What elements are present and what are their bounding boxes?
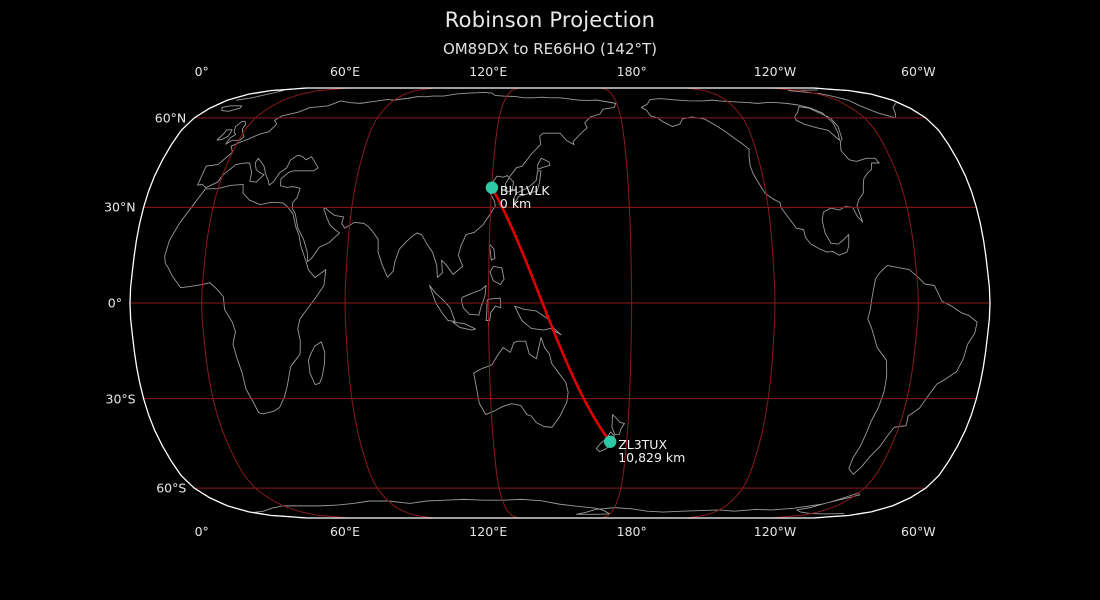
lon-tick-label-bottom-2: 120°E xyxy=(469,524,507,539)
map-canvas: Robinson Projection OM89DX to RE66HO (14… xyxy=(0,0,1100,600)
station-marker-bh1vlk[interactable] xyxy=(486,181,498,193)
lon-tick-label-top-1: 60°E xyxy=(330,64,360,79)
lon-tick-label-top-5: 60°W xyxy=(901,64,936,79)
lat-tick-label-3: 30°S xyxy=(0,391,136,406)
lat-tick-label-4: 60°S xyxy=(0,481,186,496)
lat-tick-label-0: 60°N xyxy=(0,110,186,125)
lon-tick-label-bottom-1: 60°E xyxy=(330,524,360,539)
lon-tick-label-top-2: 120°E xyxy=(469,64,507,79)
lon-tick-label-bottom-0: 0° xyxy=(195,524,209,539)
lon-tick-label-bottom-5: 60°W xyxy=(901,524,936,539)
marker-label-bh1vlk: BH1VLK0 km xyxy=(500,184,550,211)
lon-tick-label-top-0: 0° xyxy=(195,64,209,79)
lat-tick-label-1: 30°N xyxy=(0,200,136,215)
marker-label-zl3tux: ZL3TUX10,829 km xyxy=(618,438,685,465)
station-marker-zl3tux[interactable] xyxy=(604,436,616,448)
marker-distance-bh1vlk: 0 km xyxy=(500,197,550,211)
lon-tick-label-bottom-3: 180° xyxy=(617,524,647,539)
marker-distance-zl3tux: 10,829 km xyxy=(618,451,685,465)
lat-tick-label-2: 0° xyxy=(0,296,122,311)
lon-tick-label-top-4: 120°W xyxy=(754,64,796,79)
lon-tick-label-top-3: 180° xyxy=(617,64,647,79)
lon-tick-label-bottom-4: 120°W xyxy=(754,524,796,539)
robinson-projection-svg xyxy=(0,0,1100,600)
